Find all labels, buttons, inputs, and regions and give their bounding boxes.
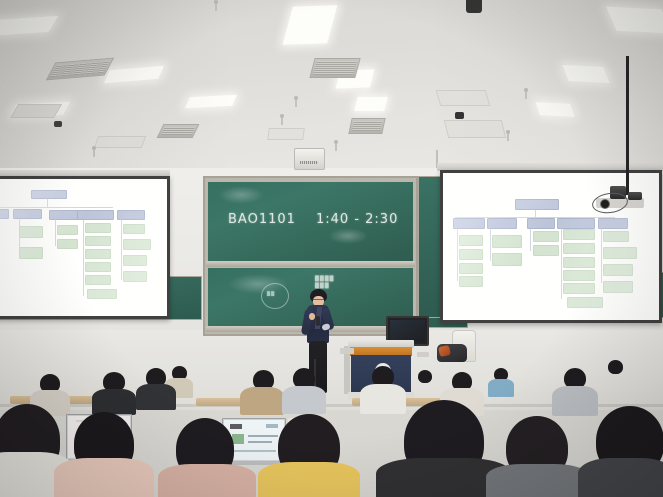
slide-title-box xyxy=(515,199,559,210)
slide-item-box xyxy=(459,249,483,260)
right-slide-content xyxy=(443,173,659,320)
student-body xyxy=(360,384,406,414)
slide-item-box xyxy=(57,239,78,249)
slide-item-box xyxy=(533,245,559,256)
slide-item-box xyxy=(603,247,637,259)
student-body xyxy=(92,389,136,415)
slide-item-box xyxy=(123,255,147,266)
air-vent xyxy=(157,124,200,138)
desk-items xyxy=(417,352,429,357)
slide-column-header xyxy=(527,218,555,229)
slide-item-box xyxy=(19,247,43,259)
left-projection-screen xyxy=(0,176,170,319)
backpack xyxy=(437,344,467,362)
slide-item-box xyxy=(123,224,145,234)
slide-item-box xyxy=(85,249,111,259)
slide-item-box xyxy=(123,239,151,250)
slide-item-box xyxy=(563,283,595,294)
slide-connector xyxy=(490,227,491,261)
slide-item-box xyxy=(567,297,603,308)
sprinkler-icon xyxy=(334,140,338,144)
side-chalkboard-corner xyxy=(418,176,442,318)
slide-connector xyxy=(457,227,458,281)
camera-mount-pole xyxy=(626,56,629,195)
sprinkler-icon xyxy=(214,0,218,4)
ceiling-light xyxy=(0,16,58,36)
camera-arm xyxy=(628,192,642,200)
ceiling-light xyxy=(104,66,164,83)
student-body-foreground xyxy=(158,464,256,497)
slide-column-header xyxy=(557,218,595,229)
lecture-hall-photo: BAO1101 1:40 - 2:30 ███████ ██ xyxy=(0,0,663,497)
ceiling-light xyxy=(606,7,663,34)
ceiling-sensor-icon xyxy=(54,121,62,127)
glasses-icon xyxy=(313,299,324,303)
chalk-course-code: BAO1101 xyxy=(228,212,296,227)
slide-item-box xyxy=(603,231,629,242)
slide-connector xyxy=(535,208,536,217)
student-head xyxy=(418,370,432,383)
student-body xyxy=(136,384,176,410)
slide-column-header xyxy=(487,218,517,229)
student-body xyxy=(282,386,326,414)
slide-item-box xyxy=(19,226,43,238)
slide-connector xyxy=(47,197,48,207)
ceiling-light xyxy=(283,5,338,45)
sprinkler-icon xyxy=(524,88,528,92)
ceiling-light xyxy=(535,102,574,117)
desk-items xyxy=(340,348,354,354)
ceiling-panel xyxy=(444,120,506,138)
slide-item-box xyxy=(563,270,595,281)
slide-column-header xyxy=(0,209,9,219)
student-body-foreground xyxy=(54,458,154,497)
air-vent xyxy=(348,118,385,134)
student-body-foreground xyxy=(578,458,663,497)
slide-item-box xyxy=(459,276,483,287)
sprinkler-icon xyxy=(92,146,96,150)
ceiling-light xyxy=(336,69,375,88)
student-body xyxy=(488,379,514,397)
ceiling-panel xyxy=(267,128,305,140)
slide-column-header xyxy=(598,218,628,229)
slide-item-box xyxy=(603,281,633,293)
slide-connector xyxy=(121,218,122,280)
slide-item-box xyxy=(492,235,522,248)
ceiling-camera-icon xyxy=(466,0,482,13)
student-body xyxy=(240,387,284,415)
ceiling-panel xyxy=(94,136,147,148)
ceiling-sensor-icon xyxy=(455,112,464,119)
slide-connector xyxy=(83,218,84,296)
student-body xyxy=(552,386,598,416)
slide-item-box xyxy=(123,271,147,282)
student-head xyxy=(608,360,623,374)
ceiling-light xyxy=(354,97,387,111)
student-body-foreground xyxy=(258,462,360,497)
ceiling-light xyxy=(562,65,609,83)
air-vent xyxy=(46,58,114,81)
slide-connector xyxy=(55,218,56,246)
slide-connector xyxy=(0,207,113,208)
ceiling-light xyxy=(185,95,237,108)
slide-item-box xyxy=(85,275,111,285)
sprinkler-icon xyxy=(294,96,298,100)
ceiling xyxy=(0,0,663,182)
microphone-icon xyxy=(316,316,320,326)
slide-item-box xyxy=(563,243,595,254)
slide-connector xyxy=(561,227,562,299)
chalk-rail xyxy=(206,261,415,267)
slide-item-box xyxy=(85,223,111,233)
slide-item-box xyxy=(459,263,483,274)
left-slide-content xyxy=(0,179,167,316)
lecturer-hand xyxy=(309,313,315,320)
ceiling-light xyxy=(10,102,70,118)
slide-column-header xyxy=(13,209,42,219)
slide-connector xyxy=(601,227,602,283)
chalk-side-note: ███████ xyxy=(315,276,334,290)
chalk-circle-sketch: ██ xyxy=(261,283,289,309)
slide-item-box xyxy=(563,229,595,240)
chalk-class-time: 1:40 - 2:30 xyxy=(316,212,398,227)
slide-item-box xyxy=(459,235,483,246)
desk-items xyxy=(336,336,346,341)
slide-item-box xyxy=(85,262,111,272)
wall-speaker-icon xyxy=(294,148,325,170)
slide-item-box xyxy=(603,264,633,276)
sprinkler-icon xyxy=(280,114,284,118)
slide-column-header xyxy=(49,210,78,220)
slide-item-box xyxy=(57,225,78,235)
slide-connector xyxy=(530,227,531,251)
slide-item-box xyxy=(533,231,559,242)
ceiling-panel xyxy=(436,90,491,106)
slide-title-box xyxy=(31,190,67,199)
slide-item-box xyxy=(85,236,111,246)
slide-item-box xyxy=(87,289,117,299)
ceiling-panel xyxy=(10,104,62,118)
slide-item-box xyxy=(563,257,595,268)
student-body-foreground xyxy=(486,464,590,497)
slide-item-box xyxy=(492,253,522,266)
air-vent xyxy=(309,58,360,78)
sprinkler-icon xyxy=(506,130,510,134)
